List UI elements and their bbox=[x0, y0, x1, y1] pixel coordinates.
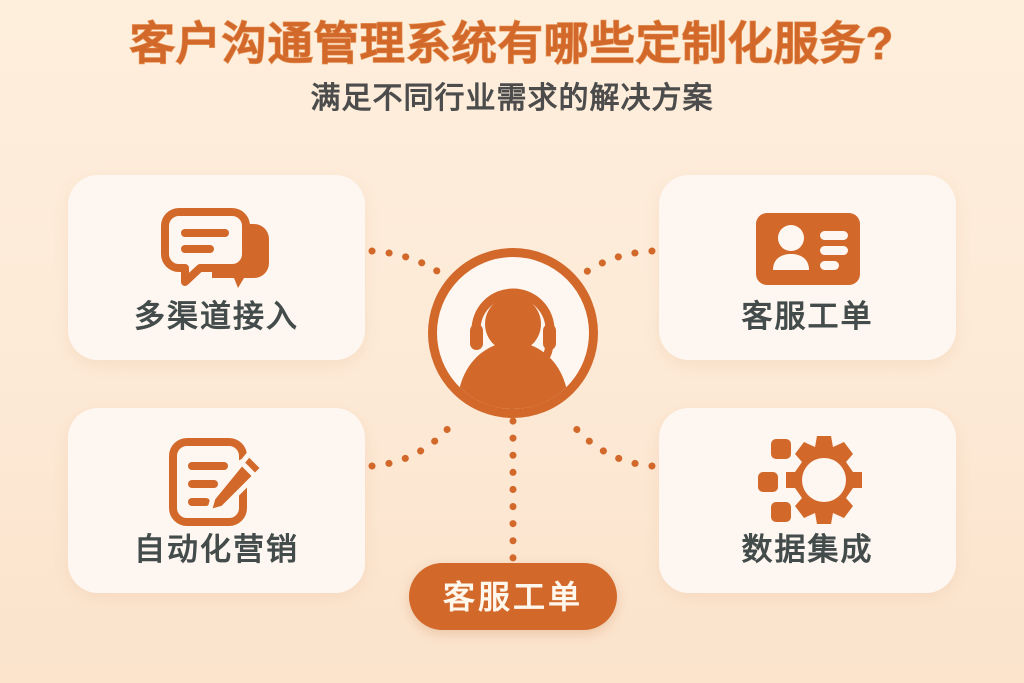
connector-bottom-right bbox=[572, 424, 652, 466]
feature-card-ticket[interactable]: 客服工单 bbox=[659, 175, 956, 360]
gear-data-icon bbox=[754, 436, 862, 528]
headset-agent-icon bbox=[428, 248, 598, 418]
feature-card-multichannel[interactable]: 多渠道接入 bbox=[68, 175, 365, 360]
card-label: 数据集成 bbox=[742, 534, 874, 565]
feature-card-automation[interactable]: 自动化营销 bbox=[68, 408, 365, 593]
page-title: 客户沟通管理系统有哪些定制化服务? bbox=[0, 18, 1024, 70]
chat-bubbles-icon bbox=[158, 203, 276, 295]
document-pencil-icon bbox=[165, 436, 269, 528]
card-label: 自动化营销 bbox=[134, 534, 299, 565]
contact-card-icon bbox=[753, 203, 863, 295]
infographic-canvas: 客户沟通管理系统有哪些定制化服务? 满足不同行业需求的解决方案 bbox=[0, 0, 1024, 683]
card-label: 客服工单 bbox=[742, 301, 874, 332]
status-badge-label: 客服工单 bbox=[443, 581, 583, 613]
header: 客户沟通管理系统有哪些定制化服务? 满足不同行业需求的解决方案 bbox=[0, 18, 1024, 115]
card-label: 多渠道接入 bbox=[134, 301, 299, 332]
status-badge[interactable]: 客服工单 bbox=[409, 563, 617, 630]
connector-bottom-left bbox=[372, 424, 452, 466]
page-subtitle: 满足不同行业需求的解决方案 bbox=[0, 82, 1024, 115]
feature-card-data-integration[interactable]: 数据集成 bbox=[659, 408, 956, 593]
center-hub bbox=[428, 248, 598, 418]
